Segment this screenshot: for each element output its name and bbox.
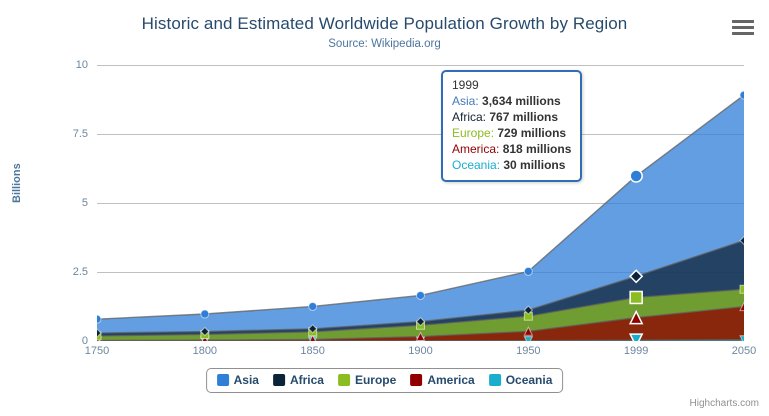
x-tick-label: 1750 [57,345,137,357]
x-tick-label: 1850 [273,345,353,357]
legend-item-africa[interactable]: Africa [273,373,324,387]
x-axis-labels: 1750180018501900195019992050 [97,345,744,363]
y-tick-label: 7.5 [28,128,88,140]
menu-bar-3 [732,32,754,35]
chart-title: Historic and Estimated Worldwide Populat… [0,14,769,34]
tooltip-series-value: 767 millions [489,110,558,124]
x-tick-label: 1999 [596,345,676,357]
legend-label: America [427,373,474,387]
legend-swatch-icon [489,374,501,386]
menu-bar-2 [732,26,754,29]
marker-asia-1950 [524,267,532,275]
marker-asia-1750 [97,315,101,323]
tooltip-rows: Asia: 3,634 millionsAfrica: 767 millions… [452,93,571,173]
tooltip-row: Oceania: 30 millions [452,157,571,173]
marker-asia-1800 [201,310,209,318]
tooltip-series-value: 3,634 millions [482,94,561,108]
legend-swatch-icon [273,374,285,386]
legend-label: Asia [234,373,259,387]
x-tick-label: 1800 [165,345,245,357]
chart-subtitle: Source: Wikipedia.org [0,38,769,50]
tooltip-series-name: Asia: [452,94,482,108]
x-tick-label: 1950 [488,345,568,357]
tooltip-row: Europe: 729 millions [452,125,571,141]
tooltip-series-name: America: [452,142,503,156]
tooltip-row: America: 818 millions [452,141,571,157]
legend-item-europe[interactable]: Europe [338,373,396,387]
x-tick-label: 2050 [704,345,769,357]
tooltip-row: Asia: 3,634 millions [452,93,571,109]
credits-label[interactable]: Highcharts.com [690,398,759,409]
plot-area [97,65,744,341]
highcharts-container: Historic and Estimated Worldwide Populat… [0,0,769,416]
legend-swatch-icon [338,374,350,386]
marker-asia-1999 [630,170,642,182]
chart-legend: AsiaAfricaEuropeAmericaOceania [206,368,564,393]
legend-item-asia[interactable]: Asia [217,373,259,387]
legend-swatch-icon [217,374,229,386]
marker-europe-2050 [740,285,744,293]
marker-asia-1900 [417,291,425,299]
tooltip-series-value: 818 millions [503,142,572,156]
y-tick-label: 2.5 [28,266,88,278]
tooltip-row: Africa: 767 millions [452,109,571,125]
legend-label: Europe [355,373,396,387]
y-tick-label: 10 [28,59,88,71]
menu-bar-1 [732,20,754,23]
y-tick-label: 5 [28,197,88,209]
tooltip-series-name: Africa: [452,110,489,124]
chart-tooltip: 1999 Asia: 3,634 millionsAfrica: 767 mil… [441,70,582,182]
legend-item-oceania[interactable]: Oceania [489,373,553,387]
tooltip-header: 1999 [452,78,571,92]
tooltip-series-name: Europe: [452,126,497,140]
legend-label: Oceania [506,373,553,387]
legend-swatch-icon [410,374,422,386]
hamburger-menu-icon[interactable] [731,16,755,38]
legend-item-america[interactable]: America [410,373,474,387]
marker-asia-2050 [740,91,744,99]
x-tick-label: 1900 [381,345,461,357]
y-axis-labels: 02.557.510 [20,65,88,341]
tooltip-series-name: Oceania: [452,158,503,172]
legend-label: Africa [290,373,324,387]
chart-svg [97,65,744,341]
tooltip-series-value: 729 millions [497,126,566,140]
marker-asia-1850 [309,302,317,310]
tooltip-series-value: 30 millions [503,158,565,172]
marker-europe-1999 [630,291,642,303]
